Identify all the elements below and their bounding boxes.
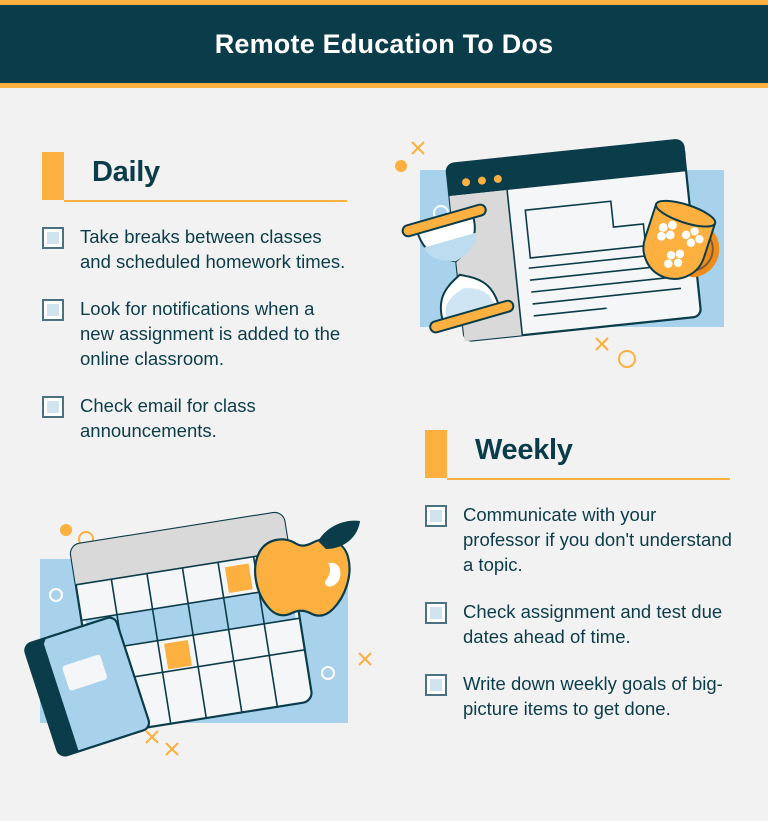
checkbox-icon[interactable] bbox=[42, 396, 64, 418]
list-item-label: Check assignment and test due dates ahea… bbox=[463, 599, 735, 649]
decorative-dot bbox=[60, 524, 72, 536]
heading-underline bbox=[447, 478, 730, 480]
header-bar: Remote Education To Dos bbox=[0, 5, 768, 83]
page-header: Remote Education To Dos bbox=[0, 0, 768, 88]
list-item-label: Check email for class announcements. bbox=[80, 393, 352, 443]
checkbox-icon[interactable] bbox=[425, 602, 447, 624]
checkbox-icon[interactable] bbox=[42, 227, 64, 249]
list-item[interactable]: Check assignment and test due dates ahea… bbox=[425, 599, 735, 649]
list-item-label: Communicate with your professor if you d… bbox=[463, 502, 735, 577]
section-heading-label: Daily bbox=[92, 156, 160, 189]
list-item-label: Look for notifications when a new assign… bbox=[80, 296, 352, 371]
list-item[interactable]: Check email for class announcements. bbox=[42, 393, 352, 443]
header-bottom-rule bbox=[0, 83, 768, 88]
calendar-highlight-cell bbox=[225, 564, 253, 593]
calendar-highlight-cell bbox=[164, 640, 192, 669]
list-item[interactable]: Write down weekly goals of big-picture i… bbox=[425, 671, 735, 721]
checklist-weekly: Communicate with your professor if you d… bbox=[425, 502, 735, 743]
heading-accent-block bbox=[425, 430, 447, 478]
checklist-daily: Take breaks between classes and schedule… bbox=[42, 224, 352, 465]
checkbox-icon[interactable] bbox=[425, 505, 447, 527]
checkbox-icon[interactable] bbox=[42, 299, 64, 321]
calendar-illustration bbox=[18, 503, 390, 775]
section-heading-label: Weekly bbox=[475, 434, 573, 467]
page-title: Remote Education To Dos bbox=[215, 29, 554, 60]
browser-window-illustration bbox=[388, 128, 750, 380]
decorative-circle bbox=[619, 351, 635, 367]
list-item[interactable]: Look for notifications when a new assign… bbox=[42, 296, 352, 371]
checkbox-icon[interactable] bbox=[425, 674, 447, 696]
list-item-label: Write down weekly goals of big-picture i… bbox=[463, 671, 735, 721]
section-heading-weekly: Weekly bbox=[425, 430, 730, 490]
heading-accent-block bbox=[42, 152, 64, 200]
list-item-label: Take breaks between classes and schedule… bbox=[80, 224, 352, 274]
section-heading-daily: Daily bbox=[42, 152, 347, 212]
list-item[interactable]: Communicate with your professor if you d… bbox=[425, 502, 735, 577]
heading-underline bbox=[64, 200, 347, 202]
list-item[interactable]: Take breaks between classes and schedule… bbox=[42, 224, 352, 274]
decorative-dot bbox=[395, 160, 407, 172]
